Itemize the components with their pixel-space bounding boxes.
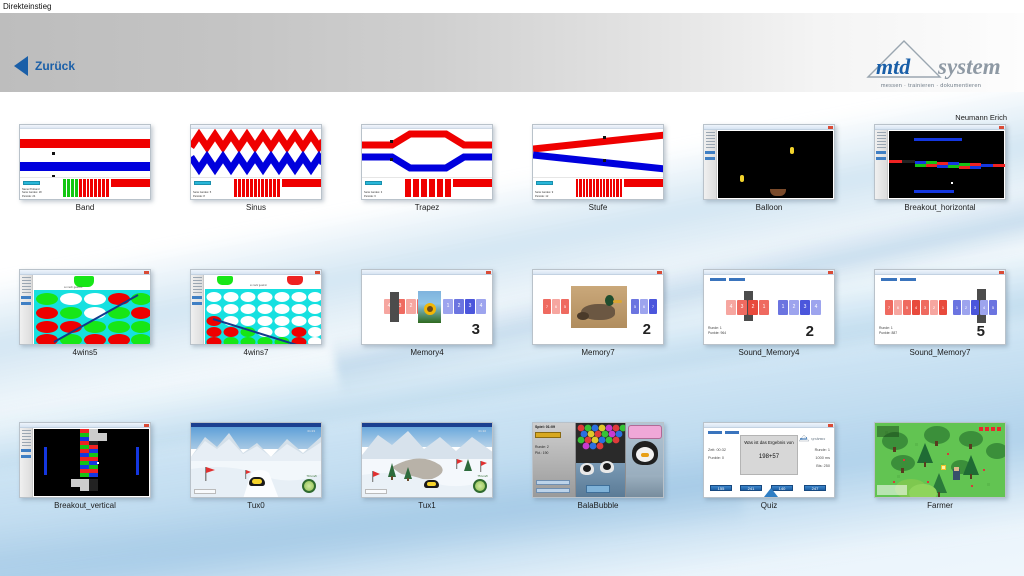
tile-breakout-vertical[interactable]: Breakout_vertical [12, 422, 158, 510]
balloon-sprite [740, 175, 744, 182]
tile-label: Tux1 [354, 501, 500, 510]
program-grid: Name ProbandSerie Gerdes: 18Periode: 24 … [0, 92, 1024, 576]
thumbnail-tux0: 79 km/h 01:23 [190, 422, 322, 498]
memory-card-red: 3 [921, 300, 929, 315]
app-header: Zurück mtd systems messen · trainieren ·… [0, 13, 1024, 92]
round-label: Runde: 1 [879, 326, 893, 330]
red-band [20, 139, 150, 148]
memory-card-red: 1 [759, 300, 769, 315]
mini-action-button [365, 181, 382, 185]
marker-dot [603, 136, 606, 139]
mini-sidebar [191, 275, 204, 344]
bar-cluster-red [576, 179, 622, 197]
thumbnail-band: Name ProbandSerie Gerdes: 18Periode: 24 [19, 124, 151, 200]
tile-label: Memory4 [354, 348, 500, 357]
round-caption: Runde: 2 [535, 445, 549, 449]
tile-label: Sound_Memory4 [696, 348, 842, 357]
mini-footer-text: Serie Gerdes: 9Periode: 12 [535, 191, 553, 198]
farm-scene [875, 423, 1006, 498]
toolbar-button [708, 431, 722, 434]
memory-card-red: 6 [894, 300, 902, 315]
drop-piece-green [217, 276, 233, 285]
question-panel: Was ist das Ergebnis von 198+57 [740, 435, 798, 475]
thumbnail-4wins5: so mehr gewinnt [19, 269, 151, 345]
mini-sidebar [20, 428, 33, 497]
disc-grid [34, 290, 151, 345]
memory-card-red: 5 [561, 299, 569, 314]
round-label: Runde: 1 [815, 447, 830, 453]
memory-card-blue: 7 [649, 299, 657, 314]
tile-label: Sinus [183, 203, 329, 212]
limit-label: Bis: 250 [816, 463, 830, 469]
time-hud: 01:23 [307, 429, 315, 433]
mini-logo: mtd systems [797, 429, 831, 437]
tile-4wins5[interactable]: so mehr gewinnt [12, 269, 158, 357]
speech-bubble [628, 425, 662, 439]
memory-card-blue: 2 [454, 299, 464, 314]
memory-card-blue: 2 [962, 300, 970, 315]
info-panel: Spiel: 01:09 Runde: 2 Pkt.: 190 [533, 423, 575, 497]
thumbnail-breakout-horizontal [874, 124, 1006, 200]
mini-footer-text: Serie Gerdes: 5Periode: 8 [193, 191, 211, 198]
thumbnail-balabubble: Spiel: 01:09 Runde: 2 Pkt.: 190 [532, 422, 664, 498]
memory-card-red: 7 [885, 300, 893, 315]
mini-sidebar [875, 130, 888, 199]
tile-label: Memory7 [525, 348, 671, 357]
memory-card-blue: 1 [953, 300, 961, 315]
panel-floor [626, 475, 663, 497]
speed-gauge-icon [473, 479, 487, 493]
tux-sprite [424, 480, 439, 488]
panel-button [536, 480, 570, 485]
thumbnail-sound-memory7: 7 6 5 4 3 2 1 1 2 3 4 5 Runde: 1 Punkte:… [874, 269, 1006, 345]
memory-card-blue: 3 [800, 300, 810, 315]
memory-card-blue: 2 [789, 300, 799, 315]
time-label: Zeit: 00:32 [708, 447, 726, 453]
memory-card-red: 4 [912, 300, 920, 315]
selection-highlight [390, 292, 399, 322]
hud-panel [194, 489, 216, 494]
marker-dot [52, 152, 55, 155]
bar-solid-red [111, 179, 150, 187]
tile-sound-memory7[interactable]: 7 6 5 4 3 2 1 1 2 3 4 5 Runde: 1 Punkte:… [867, 269, 1013, 357]
tile-quiz[interactable]: mtd systems Zeit: 00:32 Punkte: 0 Was is… [696, 422, 842, 510]
toolbar-button [710, 278, 726, 281]
marker-dot [390, 140, 393, 143]
memory-card-blue: 5 [989, 300, 997, 315]
score-value: 3 [472, 321, 480, 338]
penguin-sprite [600, 461, 614, 473]
memory-card-blue: 6 [640, 299, 648, 314]
tile-sound-memory4[interactable]: 4 3 2 1 1 2 3 4 Runde: 1 Punkte: 964 2 S… [696, 269, 842, 357]
back-button-label: Zurück [35, 59, 75, 73]
thumbnail-memory4: 4 3 2 1 1 2 3 4 3 [361, 269, 493, 345]
time-hud: 01:10 [478, 429, 486, 433]
memory-card-red: 1 [939, 300, 947, 315]
svg-text:systems: systems [937, 54, 1000, 79]
memory-card-blue: 4 [980, 300, 988, 315]
tile-memory7[interactable]: 7 6 5 5 6 7 2 Memory7 [525, 269, 671, 357]
tile-tux1[interactable]: 75 km/h 01:10 Tux1 [354, 422, 500, 510]
answer-button[interactable]: 247 [804, 485, 826, 491]
slope-curves [533, 129, 664, 179]
bar-cluster-green [63, 179, 109, 197]
thumbnail-sinus: Serie Gerdes: 5Periode: 8 [190, 124, 322, 200]
tile-stufe[interactable]: Serie Gerdes: 9Periode: 12 Stufe [525, 124, 671, 212]
points-label: Punkte: 0 [708, 455, 724, 461]
tile-label: BalaBubble [525, 501, 671, 510]
thumbnail-balloon [703, 124, 835, 200]
tile-label: Breakout_vertical [12, 501, 158, 510]
mini-action-button [194, 181, 211, 185]
tile-sinus[interactable]: Serie Gerdes: 5Periode: 8 Sinus [183, 124, 329, 212]
mtd-systems-logo: mtd systems messen · trainieren · dokume… [860, 37, 1000, 89]
memory-card-red: 3 [737, 300, 747, 315]
mini-titlebar [875, 270, 1005, 275]
game-screen [889, 131, 1004, 198]
mini-sidebar [704, 130, 717, 199]
character-panel [626, 423, 663, 497]
points-caption: Pkt.: 190 [535, 451, 548, 455]
brick-field [889, 131, 1006, 200]
balloon-sprite [790, 147, 794, 154]
ball-sprite [951, 182, 953, 184]
speed-label: 1000 ms [815, 455, 830, 461]
sunflower-image [418, 291, 441, 323]
tile-label: Trapez [354, 203, 500, 212]
mini-titlebar [533, 270, 663, 275]
tile-label: Breakout_horizontal [867, 203, 1013, 212]
back-button[interactable]: Zurück [14, 56, 75, 76]
tile-label: 4wins7 [183, 348, 329, 357]
marker-dot [603, 159, 606, 162]
board-grid [205, 289, 321, 344]
level-badge [535, 432, 561, 438]
tile-label: Farmer [867, 501, 1013, 510]
memory-card-red: 6 [552, 299, 560, 314]
tile-trapez[interactable]: Serie Gerdes: 3Periode: 6 Trapez [354, 124, 500, 212]
board-hint-text: so mehr gewinnt [250, 285, 267, 287]
mini-titlebar [20, 423, 150, 428]
tile-balabubble[interactable]: Spiel: 01:09 Runde: 2 Pkt.: 190 [525, 422, 671, 510]
thumbnail-trapez: Serie Gerdes: 3Periode: 6 [361, 124, 493, 200]
tux-sprite [249, 477, 265, 486]
logo-mark-icon: mtd systems [860, 37, 1000, 83]
window-titlebar: Direkteinstieg [0, 0, 1024, 13]
memory-card-red: 7 [543, 299, 551, 314]
tile-memory4[interactable]: 4 3 2 1 1 2 3 4 3 Memory4 [354, 269, 500, 357]
bar-solid-red [282, 179, 321, 187]
svg-text:mtd: mtd [876, 54, 911, 79]
duck-image [571, 286, 627, 328]
marker-dot [390, 158, 393, 161]
sine-curves [191, 129, 322, 179]
memory-card-blue: 1 [443, 299, 453, 314]
toolbar-button [725, 431, 739, 434]
logo-tagline: messen · trainieren · dokumentieren [862, 83, 1000, 89]
score-value: 2 [806, 323, 814, 340]
thumbnail-memory7: 7 6 5 5 6 7 2 [532, 269, 664, 345]
memory-card-blue: 5 [631, 299, 639, 314]
game-screen [718, 131, 833, 198]
speed-label: 75 km/h [477, 474, 488, 478]
mini-titlebar [20, 125, 150, 129]
bar-solid-red [453, 179, 492, 187]
disc-grid [205, 289, 322, 345]
svg-text:mtd: mtd [800, 436, 808, 441]
memory-card-blue: 3 [971, 300, 979, 315]
brick-field [34, 429, 151, 498]
tile-balloon[interactable]: Balloon [696, 124, 842, 212]
thumbnail-breakout-vertical [19, 422, 151, 498]
basket-sprite [770, 189, 786, 196]
arrow-up-icon [764, 488, 778, 497]
toolbar-button [900, 278, 916, 281]
board-area: so mehr gewinnt [34, 275, 150, 344]
mini-titlebar [875, 125, 1005, 130]
score-value: 5 [977, 323, 985, 340]
mini-titlebar [704, 423, 834, 428]
penguin-large-sprite [632, 441, 658, 465]
cannon-sprite [586, 485, 610, 493]
question-expression: 198+57 [741, 454, 797, 460]
round-label: Runde: 1 [708, 326, 722, 330]
bar-cluster-red [405, 179, 451, 197]
memory-card-red: 2 [930, 300, 938, 315]
svg-text:systems: systems [810, 436, 826, 441]
board-grid [34, 290, 150, 344]
tile-label: Stufe [525, 203, 671, 212]
ball-sprite [97, 462, 99, 464]
tile-label: Tux0 [183, 501, 329, 510]
bar-solid-red [624, 179, 663, 187]
tile-tux0[interactable]: 79 km/h 01:23 Tux0 [183, 422, 329, 510]
answer-button[interactable]: 241 [740, 485, 762, 491]
answer-button[interactable]: 155 [710, 485, 732, 491]
trapezoid-curves [362, 129, 493, 179]
memory-card-blue: 4 [476, 299, 486, 314]
tile-label: Quiz [696, 501, 842, 510]
toolbar-button [729, 278, 745, 281]
mini-footer-text: Serie Gerdes: 3Periode: 6 [364, 191, 382, 198]
thumbnail-farmer [874, 422, 1006, 498]
thumbnail-sound-memory4: 4 3 2 1 1 2 3 4 Runde: 1 Punkte: 964 2 [703, 269, 835, 345]
tile-band[interactable]: Name ProbandSerie Gerdes: 18Periode: 24 … [12, 124, 158, 212]
bubble-field [576, 423, 625, 497]
drop-piece-red [287, 276, 303, 285]
tile-4wins7[interactable]: so mehr gewinnt [183, 269, 329, 357]
score-value: 2 [643, 321, 651, 338]
tile-farmer[interactable]: Farmer [867, 422, 1013, 510]
mini-sidebar [20, 275, 33, 344]
mini-titlebar [362, 270, 492, 275]
mini-footer-text: Name ProbandSerie Gerdes: 18Periode: 24 [22, 188, 42, 198]
tile-label: 4wins5 [12, 348, 158, 357]
mini-titlebar [704, 270, 834, 275]
owner-label: Neumann Erich [955, 113, 1007, 122]
thumbnail-4wins7: so mehr gewinnt [190, 269, 322, 345]
game-screen [34, 429, 149, 496]
memory-card-red: 4 [726, 300, 736, 315]
memory-card-blue: 4 [811, 300, 821, 315]
blue-band [20, 162, 150, 171]
points-label: Punkte: 887 [879, 331, 897, 335]
tile-breakout-horizontal[interactable]: Neumann Erich [867, 124, 1013, 212]
mini-titlebar [704, 125, 834, 130]
penguin-sprite [580, 463, 594, 475]
points-label: Punkte: 964 [708, 331, 726, 335]
board-area: so mehr gewinnt [205, 275, 321, 344]
thumbnail-quiz: mtd systems Zeit: 00:32 Punkte: 0 Was is… [703, 422, 835, 498]
mini-action-button [23, 181, 40, 185]
speed-gauge-icon [302, 479, 316, 493]
triangle-left-icon [14, 56, 28, 76]
bar-cluster-red [234, 179, 280, 197]
mini-action-button [536, 181, 553, 185]
hud-panel [365, 489, 387, 494]
tile-label: Sound_Memory7 [867, 348, 1013, 357]
panel-button [536, 488, 570, 493]
speed-label: 79 km/h [306, 474, 317, 478]
memory-card-red: 2 [406, 299, 416, 314]
tile-label: Balloon [696, 203, 842, 212]
window-title: Direkteinstieg [0, 0, 1024, 13]
board-hint-text: so mehr gewinnt [64, 286, 82, 289]
memory-card-red: 2 [748, 300, 758, 315]
thumbnail-stufe: Serie Gerdes: 9Periode: 12 [532, 124, 664, 200]
memory-card-blue: 3 [465, 299, 475, 314]
memory-card-blue: 1 [778, 300, 788, 315]
tile-label: Band [12, 203, 158, 212]
toolbar-button [881, 278, 897, 281]
question-text: Was ist das Ergebnis von [741, 440, 797, 445]
score-caption: Spiel: 01:09 [535, 425, 555, 429]
memory-card-red: 5 [903, 300, 911, 315]
thumbnail-tux1: 75 km/h 01:10 [361, 422, 493, 498]
